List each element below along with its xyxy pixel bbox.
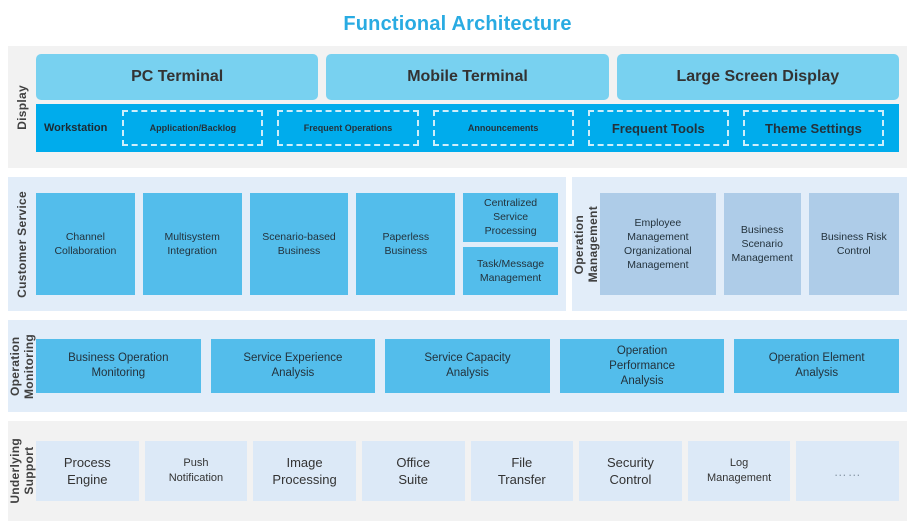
underlying-support-band: UnderlyingSupport ProcessEngine PushNoti… (8, 421, 907, 521)
operation-monitoring-band-label: OperationMonitoring (8, 320, 36, 412)
cs-box-paperless-business[interactable]: PaperlessBusiness (356, 193, 455, 295)
underlying-support-band-label-text: UnderlyingSupport (8, 438, 36, 504)
workstation-item-announcements[interactable]: Announcements (433, 110, 574, 146)
cs-box-centralized-service-processing[interactable]: Centralized ServiceProcessing (463, 193, 558, 242)
sup-box-more-ellipsis[interactable]: …… (796, 441, 899, 501)
workstation-item-theme-settings[interactable]: Theme Settings (743, 110, 884, 146)
workstation-title: Workstation (44, 122, 115, 134)
display-band: Display PC Terminal Mobile Terminal Larg… (8, 46, 907, 168)
page-title: Functional Architecture (0, 0, 915, 38)
sup-box-file-transfer[interactable]: FileTransfer (471, 441, 574, 501)
cs-box-scenario-based-business[interactable]: Scenario-basedBusiness (250, 193, 349, 295)
om-box-employee-organizational-management[interactable]: EmployeeManagementOrganizationalManageme… (600, 193, 716, 295)
terminal-mobile[interactable]: Mobile Terminal (326, 54, 608, 100)
underlying-support-band-label: UnderlyingSupport (8, 421, 36, 521)
mon-box-operation-element-analysis[interactable]: Operation ElementAnalysis (734, 339, 899, 393)
customer-service-band: Customer Service ChannelCollaboration Mu… (8, 177, 566, 311)
sup-box-office-suite[interactable]: OfficeSuite (362, 441, 465, 501)
mon-box-service-capacity-analysis[interactable]: Service CapacityAnalysis (385, 339, 550, 393)
operation-management-band-label: OperationManagement (572, 177, 600, 311)
cs-stacked-group: Centralized ServiceProcessing Task/Messa… (463, 193, 558, 295)
customer-service-band-label: Customer Service (8, 177, 36, 311)
om-box-business-scenario-management[interactable]: BusinessScenarioManagement (724, 193, 801, 295)
customer-service-band-label-text: Customer Service (15, 191, 29, 298)
mon-box-service-experience-analysis[interactable]: Service ExperienceAnalysis (211, 339, 376, 393)
sup-box-security-control[interactable]: SecurityControl (579, 441, 682, 501)
sup-box-image-processing[interactable]: ImageProcessing (253, 441, 356, 501)
operation-management-band-body: EmployeeManagementOrganizationalManageme… (600, 177, 907, 311)
cs-box-channel-collaboration[interactable]: ChannelCollaboration (36, 193, 135, 295)
terminal-pc[interactable]: PC Terminal (36, 54, 318, 100)
underlying-support-band-body: ProcessEngine PushNotification ImageProc… (36, 421, 907, 521)
operation-monitoring-band: OperationMonitoring Business OperationMo… (8, 320, 907, 412)
operation-monitoring-band-body: Business OperationMonitoring Service Exp… (36, 320, 907, 412)
operation-management-band: OperationManagement EmployeeManagementOr… (572, 177, 907, 311)
customer-service-band-body: ChannelCollaboration MultisystemIntegrat… (36, 177, 566, 311)
cs-box-task-message-management[interactable]: Task/MessageManagement (463, 247, 558, 296)
workstation-item-frequent-tools[interactable]: Frequent Tools (588, 110, 729, 146)
mon-box-operation-performance-analysis[interactable]: OperationPerformanceAnalysis (560, 339, 725, 393)
workstation-item-application-backlog[interactable]: Application/Backlog (122, 110, 263, 146)
cs-box-multisystem-integration[interactable]: MultisystemIntegration (143, 193, 242, 295)
middle-row: Customer Service ChannelCollaboration Mu… (8, 177, 907, 311)
workstation-item-frequent-operations[interactable]: Frequent Operations (277, 110, 418, 146)
workstation-row: Workstation Application/Backlog Frequent… (36, 104, 899, 152)
operation-monitoring-band-label-text: OperationMonitoring (8, 334, 36, 399)
sup-box-log-management[interactable]: LogManagement (688, 441, 791, 501)
display-band-label: Display (8, 46, 36, 168)
terminal-row: PC Terminal Mobile Terminal Large Screen… (36, 54, 899, 100)
terminal-large-screen[interactable]: Large Screen Display (617, 54, 899, 100)
display-band-body: PC Terminal Mobile Terminal Large Screen… (36, 46, 907, 168)
sup-box-process-engine[interactable]: ProcessEngine (36, 441, 139, 501)
sup-box-push-notification[interactable]: PushNotification (145, 441, 248, 501)
mon-box-business-operation-monitoring[interactable]: Business OperationMonitoring (36, 339, 201, 393)
operation-management-band-label-text: OperationManagement (572, 206, 600, 282)
display-band-label-text: Display (15, 85, 29, 130)
om-box-business-risk-control[interactable]: Business RiskControl (809, 193, 899, 295)
